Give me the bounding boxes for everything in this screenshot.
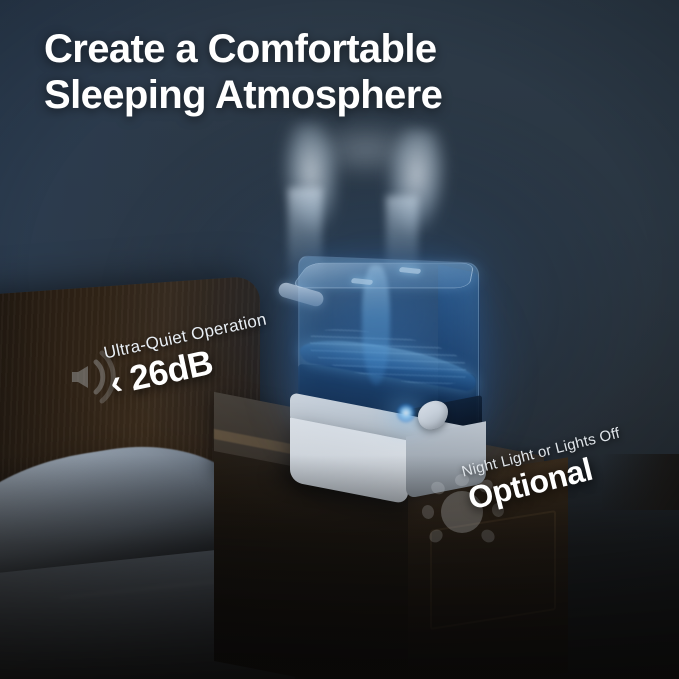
- callout-ultra-quiet: Ultra-Quiet Operation ‹ 26dB: [88, 338, 318, 428]
- page-title: Create a Comfortable Sleeping Atmosphere: [44, 26, 604, 119]
- product-marketing-image: Create a Comfortable Sleeping Atmosphere…: [0, 0, 679, 679]
- headline-line-2: Sleeping Atmosphere: [44, 72, 604, 118]
- callout-night-light: Night Light or Lights Off Optional: [452, 460, 679, 552]
- headline-line-1: Create a Comfortable: [44, 26, 604, 72]
